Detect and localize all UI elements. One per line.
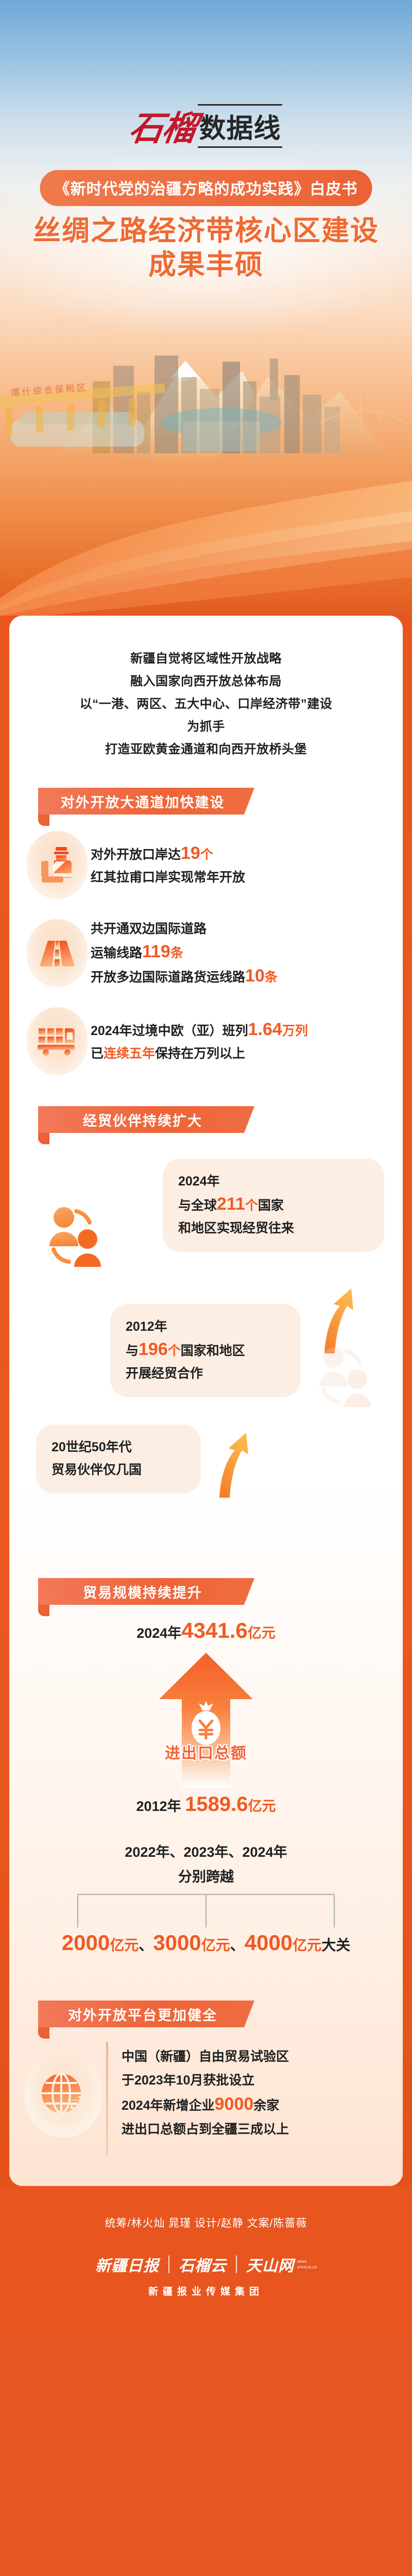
partners-section: 2024年 与全球211个国家 和地区实现经贸往来 2012年 与196个国家和… bbox=[9, 1140, 403, 1429]
roads-line3-pre: 开放多边国际道路货运线路 bbox=[91, 970, 245, 985]
platform-line-1: 中国（新疆）自由贸易试验区 bbox=[122, 2045, 387, 2069]
partners-2024-line3: 和地区实现经贸往来 bbox=[178, 1217, 369, 1240]
trade-2024-line: 2024年4341.6亿元 bbox=[9, 1617, 403, 1647]
partners-2012-post: 国家和地区 bbox=[181, 1344, 245, 1358]
publication-logo: 石榴数据线 bbox=[0, 101, 412, 150]
roads-line1: 共开通双边国际道路 bbox=[91, 918, 387, 940]
milestone-unit-3: 亿元 bbox=[293, 1937, 321, 1953]
page-title: 丝绸之路经济带核心区建设 成果丰硕 bbox=[0, 214, 412, 282]
whitepaper-badge-label: 《新时代党的治疆方略的成功实践》白皮书 bbox=[55, 181, 358, 198]
intro-line-5: 打造亚欧黄金通道和向西开放桥头堡 bbox=[30, 738, 382, 761]
partners-2024-year: 2024年 bbox=[178, 1170, 369, 1193]
stat-roads-text: 共开通双边国际道路 运输线路119条 开放多边国际道路货运线路10条 bbox=[91, 918, 387, 989]
footer: 统筹/林火灿 晁瑾 设计/赵静 文案/陈蔷薇 新疆日报 石榴云 天山网 news… bbox=[0, 2186, 412, 2334]
money-bag-arrow-icon: 进出口总额 bbox=[142, 1650, 270, 1789]
partners-1950s-line2: 贸易伙伴仅几国 bbox=[51, 1459, 185, 1481]
ports-count: 19 bbox=[181, 843, 200, 863]
trade-2012-value: 1589.6 bbox=[185, 1793, 248, 1816]
partners-1950s-line1: 20世纪50年代 bbox=[51, 1436, 185, 1459]
brand-shiliuyun-label: 石榴云 bbox=[179, 2253, 227, 2276]
trains-count: 1.64 bbox=[248, 1020, 282, 1039]
stat-row-trains: 2024年过境中欧（亚）班列1.64万列 已连续五年保持在万列以上 bbox=[9, 998, 403, 1084]
roads-multilateral-count: 10 bbox=[245, 966, 265, 986]
trains-line1-pre: 2024年过境中欧（亚）班列 bbox=[91, 1024, 248, 1038]
milestone-value-1: 2000 bbox=[62, 1930, 110, 1955]
trade-milestone-values: 2000亿元、3000亿元、4000亿元大关 bbox=[9, 1930, 403, 1955]
platform-text: 中国（新疆）自由贸易试验区 于2023年10月获批设立 2024年新增企业900… bbox=[122, 2042, 387, 2141]
trains-unit: 万列 bbox=[282, 1024, 308, 1038]
trade-2024-unit: 亿元 bbox=[248, 1625, 276, 1641]
intro-line-1: 新疆自觉将区域性开放战略 bbox=[30, 648, 382, 670]
globe-trade-icon bbox=[25, 2051, 102, 2138]
banner-tail bbox=[38, 815, 49, 826]
brand-xinjiang-daily: 新疆日报 bbox=[86, 2253, 168, 2276]
page-title-line-1: 丝绸之路经济带核心区建设 bbox=[0, 214, 412, 248]
growth-arrow-icon bbox=[216, 1429, 252, 1501]
credits-line: 统筹/林火灿 晁瑾 设计/赵静 文案/陈蔷薇 bbox=[0, 2215, 412, 2230]
trade-2012-year: 2012年 bbox=[136, 1799, 181, 1814]
milestone-tail: 大关 bbox=[321, 1937, 350, 1953]
brand-logos: 新疆日报 石榴云 天山网 news www.ts.cn bbox=[0, 2253, 412, 2276]
stat-row-roads: 共开通双边国际道路 运输线路119条 开放多边国际道路货运线路10条 bbox=[9, 908, 403, 998]
roads-multilateral-unit: 条 bbox=[265, 970, 278, 985]
brand-tianshan-url: www.ts.cn bbox=[297, 2264, 317, 2270]
platform-line-4: 进出口总额占到全疆三成以上 bbox=[122, 2117, 387, 2141]
brand-xinjiang-daily-label: 新疆日报 bbox=[95, 2253, 159, 2276]
people-group-icon bbox=[38, 1196, 115, 1273]
milestone-unit-1: 亿元 bbox=[110, 1937, 139, 1953]
trade-scale-section: 2024年4341.6亿元 bbox=[9, 1612, 403, 1955]
partners-box-2012: 2012年 与196个国家和地区 开展经贸合作 bbox=[110, 1304, 301, 1397]
partners-2024-unit: 个 bbox=[245, 1198, 258, 1213]
milestone-unit-2: 亿元 bbox=[201, 1937, 230, 1953]
ports-line2: 红其拉甫口岸实现常年开放 bbox=[91, 866, 387, 889]
milestone-value-3: 4000 bbox=[245, 1930, 293, 1955]
organization-name: 新疆报业传媒集团 bbox=[0, 2284, 412, 2298]
roads-bilateral-unit: 条 bbox=[170, 946, 183, 960]
brand-tianshan-net-label: 天山网 bbox=[246, 2253, 294, 2276]
intro-line-2: 融入国家向西开放总体布局 bbox=[30, 670, 382, 693]
section-banner-trade-label: 贸易规模持续提升 bbox=[83, 1582, 210, 1602]
partners-2024-count: 211 bbox=[217, 1194, 245, 1214]
roads-bilateral-count: 119 bbox=[142, 942, 170, 961]
partners-box-1950s: 20世纪50年代 贸易伙伴仅几国 bbox=[36, 1425, 201, 1494]
trade-arrow-label: 进出口总额 bbox=[142, 1740, 270, 1763]
brand-tianshan-tagline: news bbox=[297, 2259, 317, 2264]
stat-trains-text: 2024年过境中欧（亚）班列1.64万列 已连续五年保持在万列以上 bbox=[91, 1018, 387, 1065]
trade-2012-unit: 亿元 bbox=[248, 1799, 276, 1814]
trade-2024-value: 4341.6 bbox=[181, 1618, 247, 1642]
page-title-line-2: 成果丰硕 bbox=[0, 248, 412, 282]
road-icon bbox=[27, 919, 88, 987]
section-banner-partners: 经贸伙伴持续扩大 bbox=[38, 1106, 254, 1137]
partners-2012-year: 2012年 bbox=[126, 1315, 285, 1338]
logo-block: 数据线 bbox=[198, 104, 282, 148]
section-banner-channels-label: 对外开放大通道加快建设 bbox=[61, 791, 232, 811]
platform-line-3-pre: 2024年新增企业 bbox=[122, 2098, 215, 2113]
stat-ports-text: 对外开放口岸达19个 红其拉甫口岸实现常年开放 bbox=[91, 842, 387, 889]
partners-2012-count: 196 bbox=[139, 1340, 168, 1359]
infographic-page: 喀 什 综 合 保 税 区 石榴数据线 bbox=[0, 0, 412, 2576]
intro-line-4: 为抓手 bbox=[30, 716, 382, 738]
milestone-value-2: 3000 bbox=[153, 1930, 201, 1955]
intro-paragraph: 新疆自觉将区域性开放战略 融入国家向西开放总体布局 以“一港、两区、五大中心、口… bbox=[9, 616, 403, 766]
intro-line-3: 以“一港、两区、五大中心、口岸经济带”建设 bbox=[30, 693, 382, 716]
partners-2012-unit: 个 bbox=[168, 1344, 181, 1358]
partners-2024-pre: 与全球 bbox=[178, 1198, 217, 1213]
section-banner-trade: 贸易规模持续提升 bbox=[38, 1578, 254, 1609]
content-body: 新疆自觉将区域性开放战略 融入国家向西开放总体布局 以“一港、两区、五大中心、口… bbox=[0, 616, 412, 2186]
brand-shiliuyun: 石榴云 bbox=[169, 2253, 236, 2276]
section-banner-partners-label: 经贸伙伴持续扩大 bbox=[83, 1110, 210, 1130]
trade-milestone-years: 2022年、2023年、2024年 bbox=[9, 1840, 403, 1865]
platform-new-enterprises: 9000 bbox=[215, 2094, 254, 2114]
white-card: 新疆自觉将区域性开放战略 融入国家向西开放总体布局 以“一港、两区、五大中心、口… bbox=[9, 616, 403, 2186]
milestone-bracket bbox=[76, 1892, 336, 1929]
trade-milestone-sub: 分别跨越 bbox=[9, 1865, 403, 1889]
partners-box-2024: 2024年 与全球211个国家 和地区实现经贸往来 bbox=[163, 1159, 384, 1252]
city-skyline-illustration: 喀 什 综 合 保 税 区 bbox=[0, 330, 412, 464]
customs-officer-icon bbox=[27, 831, 88, 899]
brand-tianshan-net: 天山网 news www.ts.cn bbox=[237, 2253, 326, 2276]
section-banner-channels: 对外开放大通道加快建设 bbox=[38, 788, 254, 819]
ports-unit: 个 bbox=[200, 848, 213, 862]
logo-script-text: 石榴 bbox=[127, 101, 199, 150]
platform-line-2: 于2023年10月获批设立 bbox=[122, 2069, 387, 2092]
section-banner-platform: 对外开放平台更加健全 bbox=[38, 2001, 254, 2031]
people-group-icon bbox=[308, 1336, 385, 1413]
whitepaper-badge: 《新时代党的治疆方略的成功实践》白皮书 bbox=[40, 170, 372, 206]
trains-line2-post: 保持在万列以上 bbox=[155, 1046, 245, 1061]
platform-section: 中国（新疆）自由贸易试验区 于2023年10月获批设立 2024年新增企业900… bbox=[9, 2035, 403, 2155]
milestone-sep-1: 、 bbox=[139, 1937, 153, 1953]
trade-2012-line: 2012年 1589.6亿元 bbox=[9, 1793, 403, 1816]
partners-2024-post: 国家 bbox=[258, 1198, 284, 1213]
silk-ribbon-illustration bbox=[0, 453, 412, 616]
stat-row-ports: 对外开放口岸达19个 红其拉甫口岸实现常年开放 bbox=[9, 822, 403, 908]
logo-block-text: 数据线 bbox=[199, 114, 281, 144]
trade-2024-year: 2024年 bbox=[136, 1625, 181, 1641]
platform-divider bbox=[106, 2042, 108, 2155]
freight-train-icon bbox=[27, 1007, 88, 1075]
milestone-sep-2: 、 bbox=[230, 1937, 245, 1953]
platform-line-3-post: 余家 bbox=[253, 2098, 279, 2113]
hero-section: 喀 什 综 合 保 税 区 石榴数据线 bbox=[0, 0, 412, 616]
roads-line2-pre: 运输线路 bbox=[91, 946, 142, 960]
partners-2012-line3: 开展经贸合作 bbox=[126, 1362, 285, 1385]
ports-line1-pre: 对外开放口岸达 bbox=[91, 848, 181, 862]
section-banner-platform-label: 对外开放平台更加健全 bbox=[68, 2004, 225, 2024]
partners-2012-pre: 与 bbox=[126, 1344, 139, 1358]
trains-line2-highlight: 连续五年 bbox=[104, 1046, 155, 1061]
trade-milestone-heading: 2022年、2023年、2024年 分别跨越 bbox=[9, 1840, 403, 1889]
trains-line2-pre: 已 bbox=[91, 1046, 104, 1061]
